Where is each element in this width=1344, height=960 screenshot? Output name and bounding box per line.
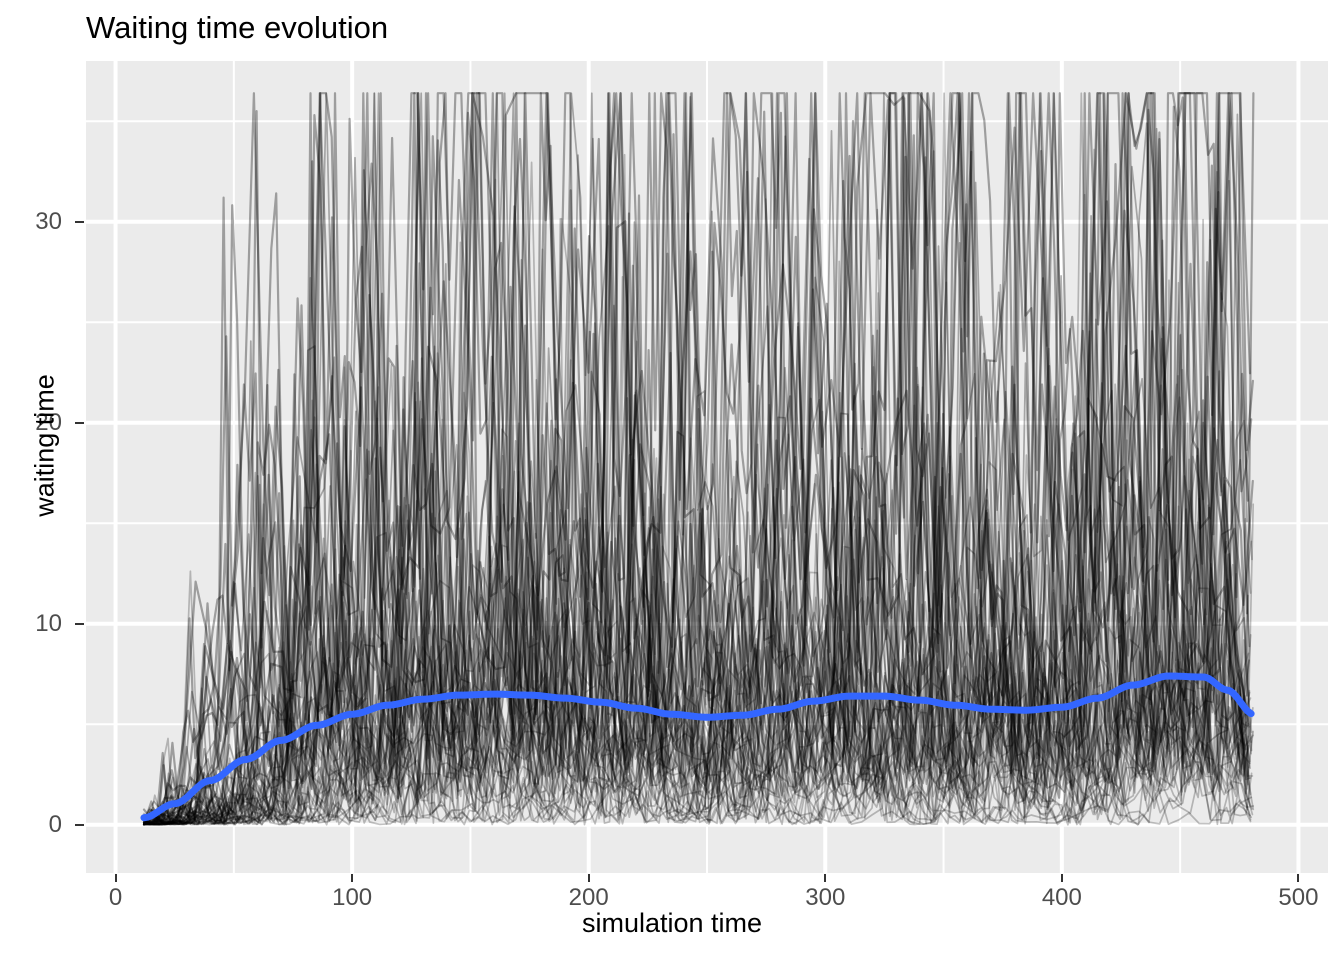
y-tick-label: 30 <box>0 208 62 236</box>
y-tick-mark <box>75 221 84 223</box>
plot-panel <box>86 61 1328 873</box>
chart-figure: Waiting time evolution 0100200300400500 … <box>0 0 1344 960</box>
x-tick-mark <box>588 874 590 882</box>
x-tick-mark <box>1297 874 1299 882</box>
y-tick-mark <box>75 623 84 625</box>
plot-canvas <box>86 61 1328 873</box>
x-tick-mark <box>351 874 353 882</box>
y-tick-mark <box>75 824 84 826</box>
x-tick-mark <box>824 874 826 882</box>
y-tick-label: 0 <box>0 811 62 839</box>
x-tick-mark <box>115 874 117 882</box>
y-tick-mark <box>75 422 84 424</box>
page-title: Waiting time evolution <box>86 8 388 48</box>
y-axis-title: waiting time <box>30 246 61 646</box>
x-tick-mark <box>1061 874 1063 882</box>
x-axis-title: simulation time <box>0 908 1344 939</box>
